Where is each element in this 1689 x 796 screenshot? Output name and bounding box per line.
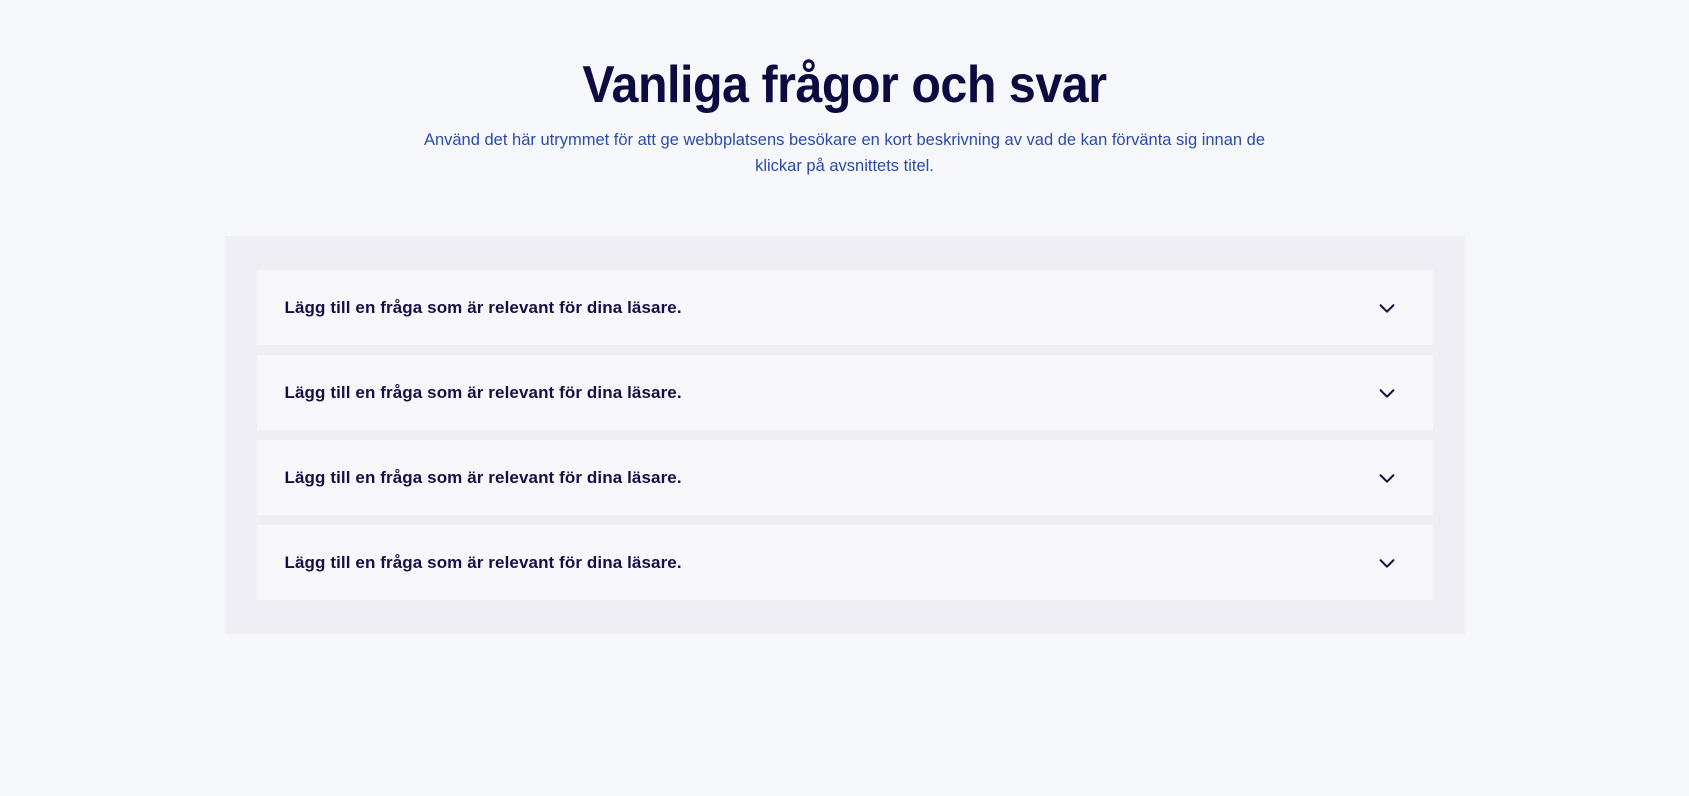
faq-page: Vanliga frågor och svar Använd det här u…	[0, 0, 1689, 796]
faq-header: Vanliga frågor och svar Använd det här u…	[0, 0, 1689, 179]
chevron-down-icon[interactable]	[1374, 295, 1400, 321]
accordion-question-label: Lägg till en fråga som är relevant för d…	[285, 468, 682, 488]
chevron-down-icon[interactable]	[1374, 550, 1400, 576]
page-title: Vanliga frågor och svar	[59, 56, 1630, 114]
page-subtitle: Använd det här utrymmet för att ge webbp…	[405, 128, 1285, 179]
chevron-down-icon[interactable]	[1374, 380, 1400, 406]
accordion-item[interactable]: Lägg till en fråga som är relevant för d…	[257, 270, 1433, 345]
accordion-question-label: Lägg till en fråga som är relevant för d…	[285, 383, 682, 403]
accordion-question-label: Lägg till en fråga som är relevant för d…	[285, 553, 682, 573]
accordion-question-label: Lägg till en fråga som är relevant för d…	[285, 298, 682, 318]
faq-accordion-panel: Lägg till en fråga som är relevant för d…	[225, 236, 1465, 634]
accordion-item[interactable]: Lägg till en fråga som är relevant för d…	[257, 355, 1433, 430]
accordion-item[interactable]: Lägg till en fråga som är relevant för d…	[257, 525, 1433, 600]
accordion-item[interactable]: Lägg till en fråga som är relevant för d…	[257, 440, 1433, 515]
chevron-down-icon[interactable]	[1374, 465, 1400, 491]
